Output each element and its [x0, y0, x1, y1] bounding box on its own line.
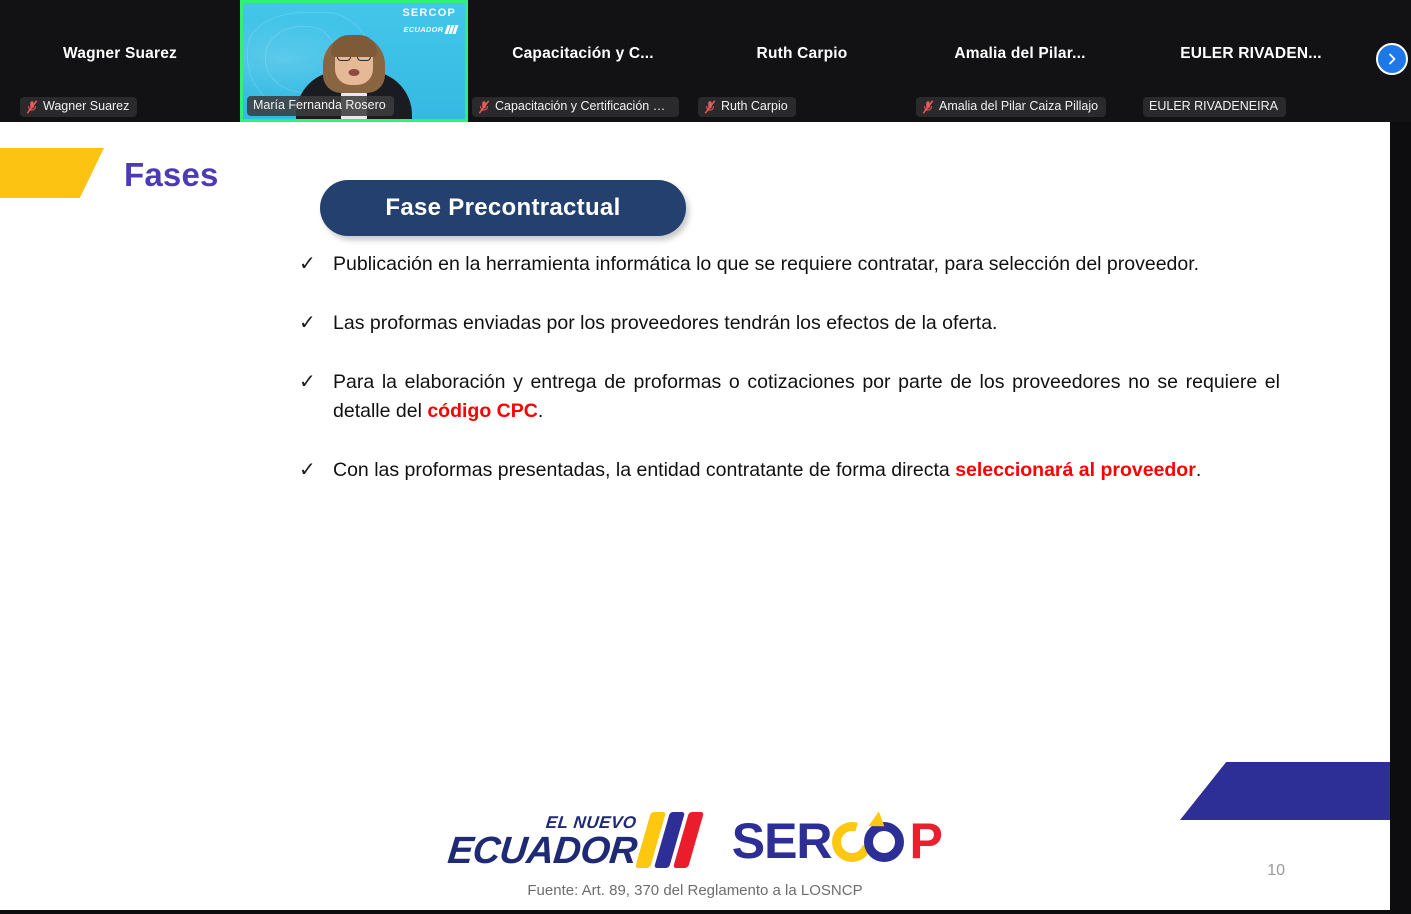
participant-tile[interactable]: Wagner Suarez Wagner Suarez — [0, 0, 240, 122]
presentation-slide: Fases Fase Precontractual ✓Publicación e… — [0, 122, 1390, 910]
bullet-text: Con las proformas presentadas, la entida… — [333, 456, 1280, 485]
source-note: Fuente: Art. 89, 370 del Reglamento a la… — [0, 882, 1390, 899]
bullet-item: ✓Las proformas enviadas por los proveedo… — [295, 309, 1280, 338]
participant-name-chip: Wagner Suarez — [20, 97, 137, 117]
participant-tile[interactable]: EULER RIVADEN... EULER RIVADENEIRA — [1134, 0, 1368, 122]
microphone-muted-icon — [26, 100, 38, 114]
participant-display-name: Ruth Carpio — [698, 45, 906, 63]
ecuador-logo-wordmark: EL NUEVO ECUADOR — [448, 814, 637, 870]
slide-section-title: Fases — [124, 156, 219, 194]
highlighted-phrase: código CPC — [427, 400, 538, 422]
sercop-logo-suffix: P — [910, 816, 942, 866]
checkmark-icon: ✓ — [295, 456, 333, 485]
ecuador-logo: EL NUEVO ECUADOR — [448, 812, 696, 870]
participant-display-name: Capacitación y C... — [468, 45, 698, 63]
participant-name-chip: EULER RIVADENEIRA — [1143, 97, 1286, 117]
participant-name-chip: Ruth Carpio — [698, 97, 796, 117]
footer-logo-row: EL NUEVO ECUADOR SER P — [0, 812, 1390, 870]
bullet-text-run: Con las proformas presentadas, la entida… — [333, 459, 955, 481]
bullet-text: Publicación en la herramienta informátic… — [333, 250, 1280, 279]
participant-tile-active-speaker[interactable]: SERCOP ECUADOR María Fernanda Rosero — [240, 0, 468, 122]
sercop-watermark: SERCOP — [402, 7, 456, 19]
microphone-muted-icon — [478, 100, 490, 114]
bullet-text-run: . — [538, 400, 543, 422]
bullet-text-run: Publicación en la herramienta informátic… — [333, 253, 1199, 275]
participant-chip-label: Ruth Carpio — [721, 99, 788, 114]
next-participants-button[interactable] — [1376, 43, 1408, 75]
bullet-item: ✓Con las proformas presentadas, la entid… — [295, 456, 1280, 485]
flag-stripes-icon — [446, 25, 457, 34]
bullet-text: Para la elaboración y entrega de proform… — [333, 368, 1280, 426]
phase-pill-badge: Fase Precontractual — [320, 180, 686, 236]
checkmark-icon: ✓ — [295, 250, 333, 279]
participant-display-name: Wagner Suarez — [0, 45, 240, 63]
participant-chip-label: Wagner Suarez — [43, 99, 129, 114]
participant-chip-label: María Fernanda Rosero — [253, 98, 386, 113]
yellow-accent-shape — [0, 148, 104, 198]
video-participant-strip: Wagner Suarez Wagner Suarez SERCOP ECUAD… — [0, 0, 1411, 122]
participant-chip-label: Amalia del Pilar Caiza Pillajo — [939, 99, 1098, 114]
ecuador-logo-tagline: EL NUEVO — [545, 814, 637, 831]
phase-pill-label: Fase Precontractual — [385, 194, 620, 222]
checkmark-icon: ✓ — [295, 309, 333, 338]
highlighted-phrase: seleccionará al proveedor — [955, 459, 1196, 481]
sercop-logo: SER P — [732, 816, 942, 866]
participant-name-chip: Capacitación y Certificación Serc... — [472, 97, 679, 117]
bullet-text-run: Las proformas enviadas por los proveedor… — [333, 312, 997, 334]
bullet-item: ✓Publicación en la herramienta informáti… — [295, 250, 1280, 279]
participant-display-name: Amalia del Pilar... — [906, 45, 1134, 63]
participant-name-chip: María Fernanda Rosero — [247, 96, 394, 116]
bullet-text: Las proformas enviadas por los proveedor… — [333, 309, 1280, 338]
bullet-text-run: . — [1196, 459, 1201, 481]
participant-tile[interactable]: Ruth Carpio Ruth Carpio — [698, 0, 906, 122]
sercop-logo-prefix: SER — [732, 816, 832, 866]
participant-chip-label: EULER RIVADENEIRA — [1149, 99, 1278, 114]
checkmark-icon: ✓ — [295, 368, 333, 397]
participant-chip-label: Capacitación y Certificación Serc... — [495, 99, 671, 114]
participant-tile[interactable]: Amalia del Pilar... Amalia del Pilar Cai… — [906, 0, 1134, 122]
ecuador-flag-stripes-icon — [643, 812, 696, 868]
bullet-list: ✓Publicación en la herramienta informáti… — [295, 250, 1280, 515]
slide-page-number: 10 — [1267, 862, 1285, 880]
chevron-right-icon — [1385, 52, 1399, 66]
participant-tile[interactable]: Capacitación y C... Capacitación y Certi… — [468, 0, 698, 122]
window-bottom-edge — [0, 910, 1411, 914]
bullet-item: ✓Para la elaboración y entrega de profor… — [295, 368, 1280, 426]
microphone-muted-icon — [704, 100, 716, 114]
participant-display-name: EULER RIVADEN... — [1134, 45, 1368, 63]
sercop-logo-rings-icon — [832, 816, 910, 866]
ecuador-logo-name: ECUADOR — [446, 832, 639, 870]
participant-name-chip: Amalia del Pilar Caiza Pillajo — [916, 97, 1106, 117]
microphone-muted-icon — [922, 100, 934, 114]
